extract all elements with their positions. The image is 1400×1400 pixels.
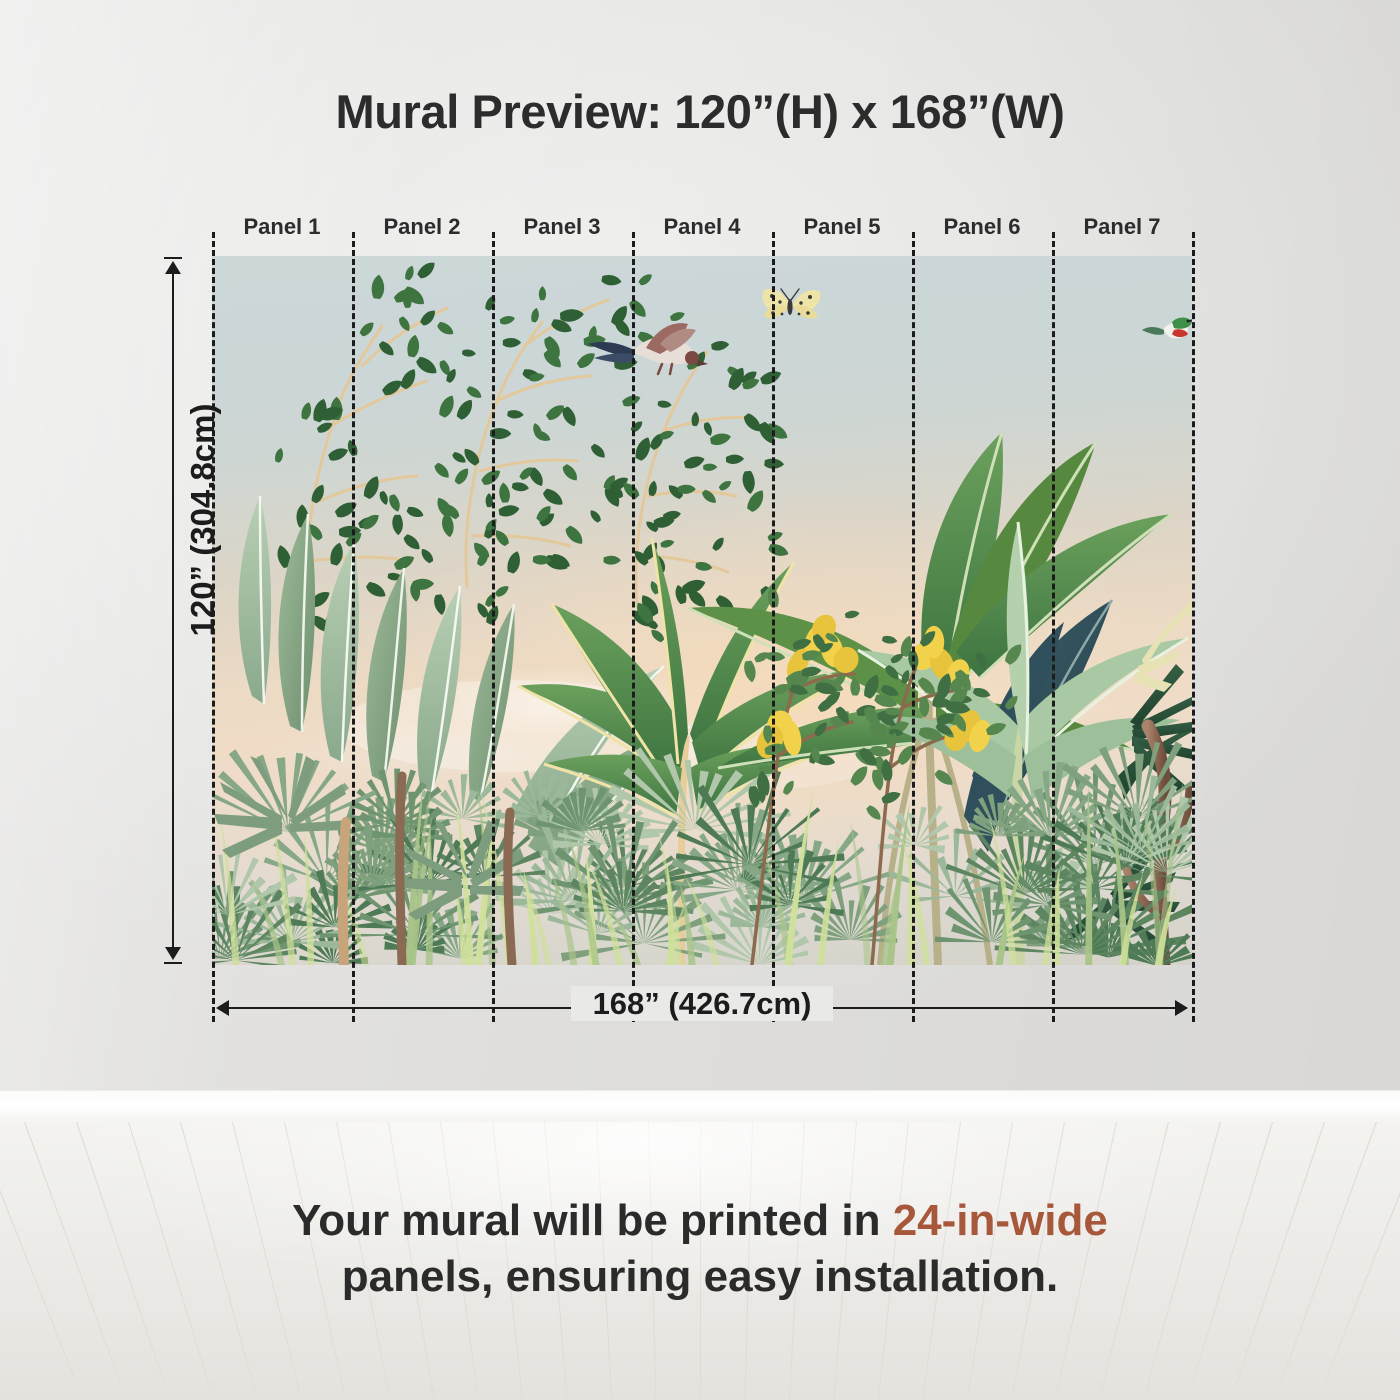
branch-leaf [437, 393, 459, 419]
branch-leaf-small [743, 660, 757, 683]
branch-leaf [441, 515, 455, 538]
panel-label-7: Panel 7 [1052, 214, 1192, 240]
branch-leaf [490, 428, 512, 440]
branch-leaf [498, 504, 520, 518]
branch-leaf [483, 294, 498, 312]
branch-leaf [462, 349, 477, 358]
branch-leaf [764, 458, 785, 470]
branch-leaf [503, 338, 522, 348]
branch-leaf [767, 530, 784, 542]
branch-leaf [703, 464, 717, 471]
branch-leaf-small [865, 804, 883, 823]
branch-leaf [499, 482, 511, 503]
branch-leaf [327, 446, 350, 463]
branch-leaf [370, 274, 385, 299]
branch-leaf [346, 439, 359, 457]
branch-leaf [494, 584, 511, 599]
branch-leaf [588, 508, 602, 524]
branch-leaf [406, 505, 425, 520]
hummingbird-illustration [1142, 316, 1192, 339]
branch-leaf [398, 366, 419, 390]
panel-label-5: Panel 5 [772, 214, 912, 240]
panel-label-4: Panel 4 [632, 214, 772, 240]
branch-leaf [334, 499, 360, 520]
branch-leaf [695, 561, 713, 573]
panel-label-2: Panel 2 [352, 214, 492, 240]
branch-leaf [683, 454, 706, 470]
branch-leaf [465, 384, 483, 401]
branch-leaf [759, 368, 783, 386]
branch-leaf [718, 479, 733, 492]
branch-leaf [433, 461, 452, 481]
branch-leaf [433, 594, 447, 616]
branch-leaf-small [845, 610, 860, 619]
branch-leaf [601, 273, 622, 287]
caption-highlight: 24-in-wide [893, 1196, 1108, 1245]
branch-leaf [413, 579, 435, 590]
branch-leaf [300, 401, 314, 420]
branch-leaf [416, 259, 439, 280]
caption-line-2: panels, ensuring easy installation. [0, 1249, 1400, 1305]
branch-leaf [379, 490, 390, 506]
branch-leaf [561, 463, 580, 484]
branch-leaf [538, 286, 546, 300]
branch-leaf [414, 354, 439, 378]
branch-leaf [436, 320, 456, 338]
branch-leaf [388, 493, 402, 513]
branch-leaf [703, 422, 714, 437]
mural-preview-page: Mural Preview: 120”(H) x 168”(W) Panel 1… [0, 0, 1400, 1400]
branch-leaf [485, 493, 493, 507]
branch-leaf [274, 447, 286, 463]
branch-leaf [589, 442, 607, 461]
branch-leaf [691, 411, 700, 426]
branch-leaf [530, 307, 541, 323]
branch-leaf [404, 264, 417, 281]
branch-leaf [507, 409, 524, 419]
understory-fan-palm [878, 805, 949, 854]
branch-leaf [419, 546, 435, 564]
panel-label-6: Panel 6 [912, 214, 1052, 240]
butterfly-illustration [762, 289, 820, 319]
branch-leaf [505, 549, 523, 574]
branch-leaf [637, 272, 654, 287]
branch-leaf [767, 542, 790, 559]
mural-artwork [212, 256, 1192, 965]
branch-leaf [453, 466, 472, 486]
branch-leaf [358, 320, 377, 338]
branch-leaf [629, 419, 644, 433]
understory-grass-blade [901, 836, 930, 965]
branch-leaf [660, 539, 675, 549]
caption-line-1: Your mural will be printed in 24-in-wide [0, 1193, 1400, 1249]
branch-leaf [392, 515, 403, 535]
branch-leaf-small [881, 790, 903, 805]
mural-foliage-illustration [212, 256, 1192, 965]
page-title: Mural Preview: 120”(H) x 168”(W) [0, 84, 1400, 139]
branch-leaf [541, 486, 566, 509]
branch-leaf [621, 393, 641, 408]
branch-leaf [726, 455, 744, 465]
branch-leaf [711, 535, 727, 552]
branch-leaf [627, 298, 649, 321]
branch-leaf [603, 555, 621, 565]
panel-label-row: Panel 1Panel 2Panel 3Panel 4Panel 5Panel… [212, 214, 1192, 246]
branch-leaf [560, 405, 578, 428]
branch-leaf-small [882, 635, 899, 646]
footer-caption: Your mural will be printed in 24-in-wide… [0, 1193, 1400, 1306]
branch-leaf [328, 541, 346, 566]
branch-leaf [406, 334, 422, 358]
branch-leaf [511, 481, 529, 493]
branch-leaf [454, 397, 476, 422]
branch-leaf [575, 350, 598, 370]
panel-label-1: Panel 1 [212, 214, 352, 240]
branch-leaf [499, 315, 515, 326]
width-dimension-line: 168” (426.7cm) [212, 994, 1192, 1022]
branch-leaf [742, 471, 756, 495]
branch-leaf [657, 400, 672, 409]
branch-leaf [419, 308, 439, 328]
width-dimension-label: 168” (426.7cm) [212, 986, 1192, 1022]
branch-leaf [711, 340, 730, 351]
branch-leaf [669, 310, 686, 322]
branch-leaf [402, 533, 423, 554]
height-dimension-label-wrap: 120” (304.8cm) [150, 455, 190, 495]
branch-leaf [710, 432, 733, 446]
branch-leaf [365, 580, 389, 601]
branch-leaf [633, 435, 655, 462]
baseboard [0, 1090, 1400, 1125]
height-dimension-label: 120” (304.8cm) [184, 355, 222, 685]
caption-prefix: Your mural will be printed in [292, 1196, 893, 1245]
panel-label-3: Panel 3 [492, 214, 632, 240]
